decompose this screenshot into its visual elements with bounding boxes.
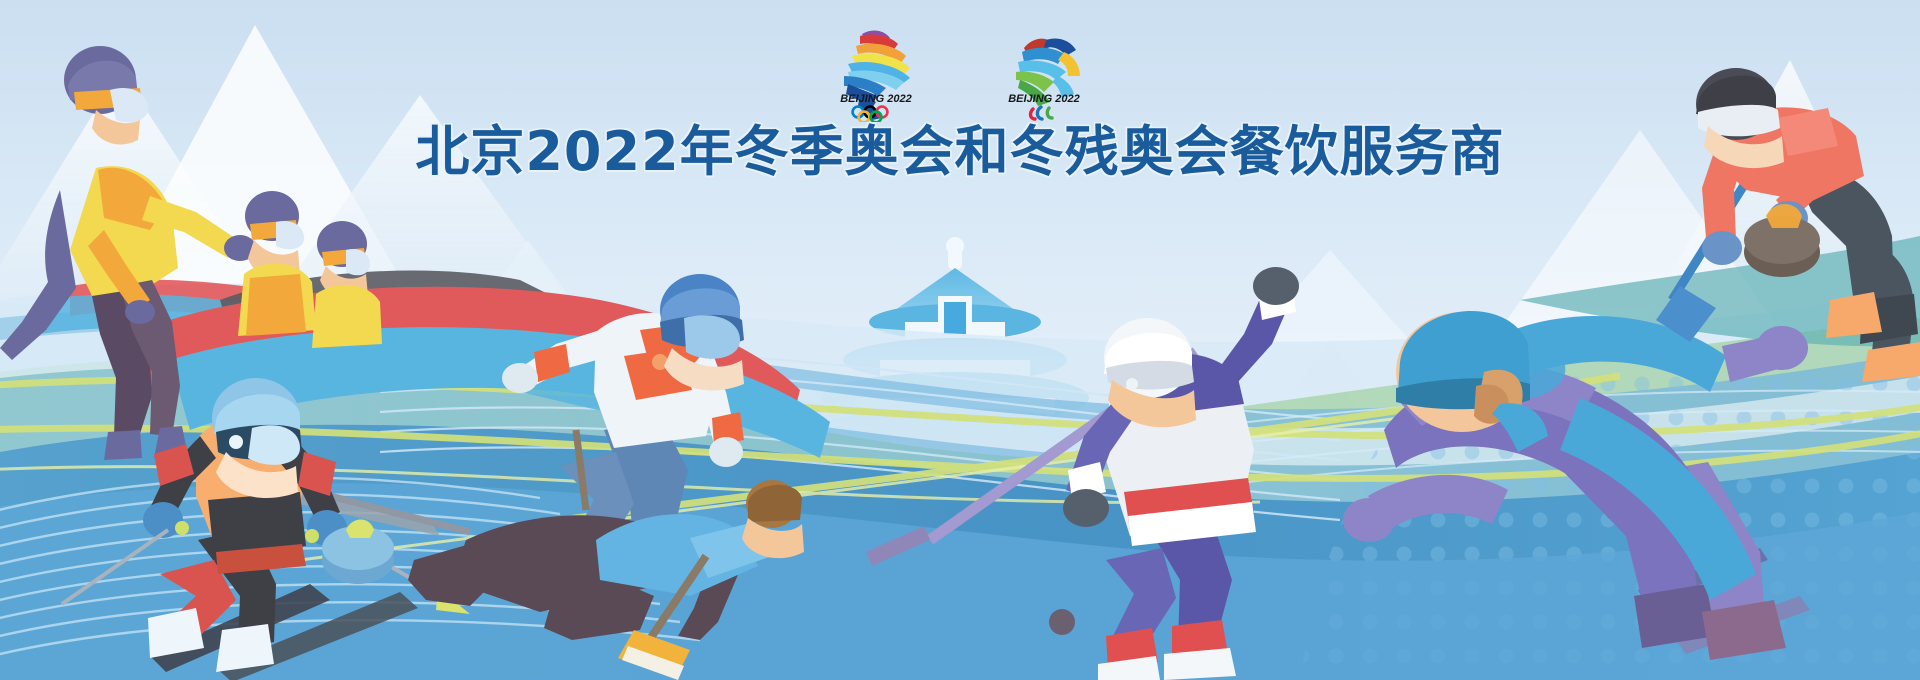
- beijing-2022-catering-banner: BEIJING 2022 BEIJING 2022: [0, 0, 1920, 680]
- page-title: 北京2022年冬季奥会和冬残奥会餐饮服务商: [415, 122, 1504, 182]
- beijing-2022-paralympic-emblem[interactable]: BEIJING 2022: [986, 22, 1102, 122]
- olympic-emblem-wordmark: BEIJING 2022: [840, 93, 912, 105]
- ice-hockey-player: [866, 267, 1299, 680]
- banner-title-container: 北京2022年冬季奥会和冬残奥会餐饮服务商: [0, 122, 1920, 182]
- agitos-icon: [1031, 107, 1052, 119]
- emblem-row: BEIJING 2022 BEIJING 2022: [0, 22, 1920, 122]
- speed-skater-large: [1343, 311, 1810, 660]
- winter-dong-character-icon: [844, 31, 910, 120]
- beijing-2022-olympic-emblem[interactable]: BEIJING 2022: [818, 22, 934, 122]
- paralympic-emblem-wordmark: BEIJING 2022: [1008, 93, 1080, 105]
- bobsleigh-rider-1: [238, 191, 316, 336]
